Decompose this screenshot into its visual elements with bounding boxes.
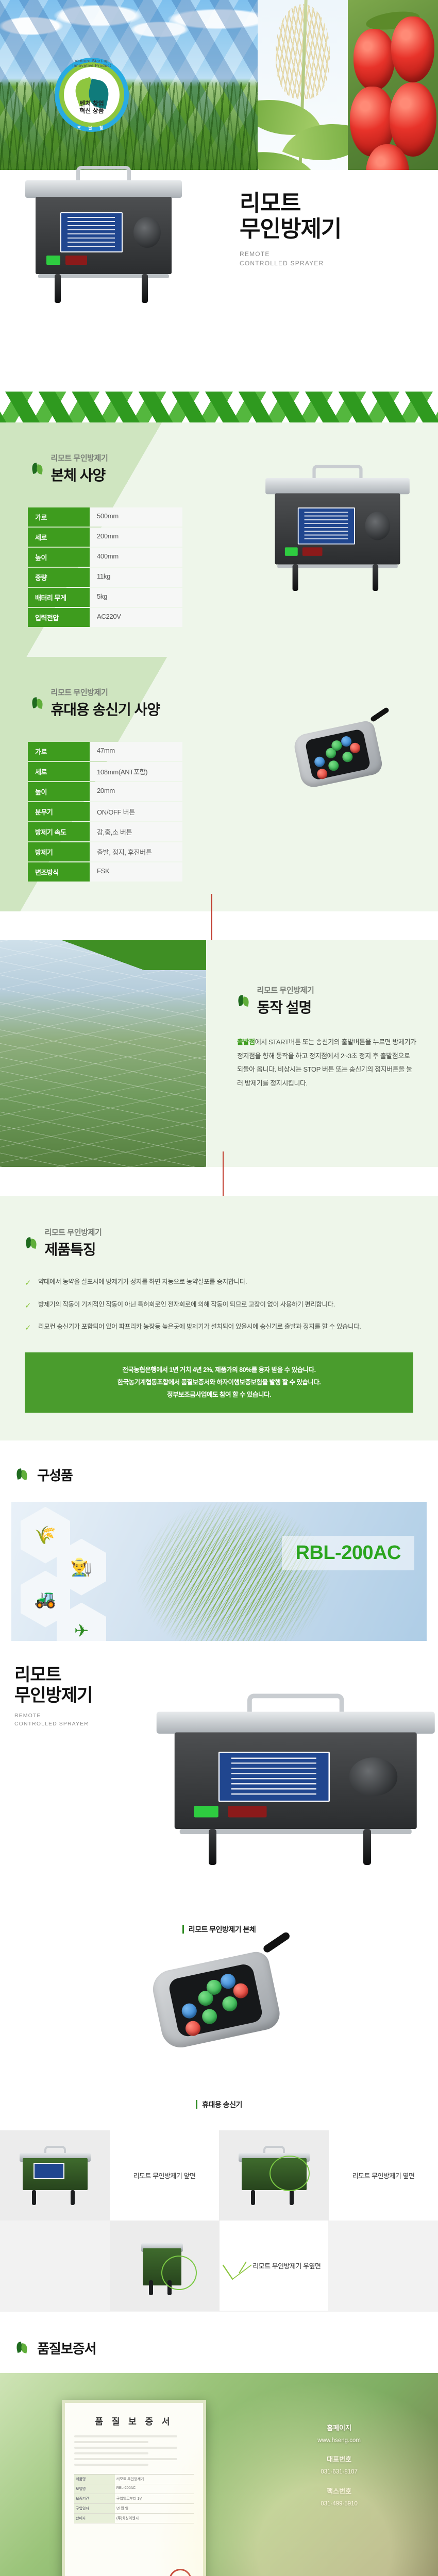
operation-highlight: 출발점 — [237, 1038, 255, 1046]
remote-spec-photo — [273, 714, 407, 811]
table-row: 세로 200mm — [28, 528, 182, 547]
tomato — [390, 82, 436, 157]
model-code: RBL-200AC — [295, 1542, 401, 1564]
spec-value: 400mm — [90, 548, 182, 567]
leaf-icon — [31, 463, 44, 474]
components-section: 구성품 🌾 👨‍🌾 🚜 ✈ RBL-200AC 리모트 무인방제기 REMOTE… — [0, 1440, 438, 2312]
features-header: 리모트 무인방제기 제품특징 — [0, 1227, 438, 1259]
hero-title-kr-line1: 리모트 — [240, 191, 425, 216]
warranty-section: 품질보증서 품 질 보 증 서 제품명 리모트 무인방제기 모델명 RBL-20… — [0, 2312, 438, 2576]
features-title: 제품특징 — [44, 1239, 102, 1259]
machine-knob — [365, 512, 390, 540]
front-view-label: 리모트 무인방제기 앞면 — [110, 2130, 219, 2221]
leaf-icon — [15, 1469, 29, 1480]
hero-content: Venture Start-up Innovative Product 벤처 창… — [0, 170, 438, 392]
pin-marker — [223, 1151, 224, 1203]
spec-value: 500mm — [90, 507, 182, 527]
pin-marker — [211, 894, 212, 945]
spec-key: 높이 — [28, 548, 90, 567]
machine-label-panel — [297, 507, 355, 545]
machine-display — [65, 256, 87, 265]
check-icon: ✓ — [25, 1321, 38, 1335]
main-product-photo — [144, 1692, 386, 1862]
fax-label: 팩스번호 — [317, 2486, 361, 2497]
table-row: 판매자 (주)화성이엔지 — [74, 2514, 194, 2523]
table-row: 배터리 무게 5kg — [28, 588, 182, 607]
machine-display — [302, 547, 323, 556]
table-row: 제품명 리모트 무인방제기 — [74, 2475, 194, 2484]
warranty-certificate: 품 질 보 증 서 제품명 리모트 무인방제기 모델명 RBL-200AC 보증… — [62, 2400, 206, 2576]
machine-display — [228, 1806, 266, 1818]
certificate-title: 품 질 보 증 서 — [74, 2414, 194, 2427]
operation-description: 출발점에서 START버튼 또는 송신기의 출발버튼을 누르면 방제기가 정지점… — [237, 1036, 417, 1091]
badge-center-text: 벤처 창업 혁신 상품 — [64, 100, 120, 115]
antenna-icon — [262, 1931, 291, 1954]
product-title-kr-line1: 리모트 — [14, 1665, 438, 1686]
badge-ring-bottom-text: 조 달 청 — [64, 125, 120, 131]
grid-spacer — [0, 2221, 110, 2311]
cert-key: 제품명 — [74, 2475, 115, 2484]
cloud-layer — [0, 0, 258, 87]
spec-value: 200mm — [90, 528, 182, 547]
machine-leg — [293, 564, 298, 591]
table-row: 모델명 RBL-200AC — [74, 2484, 194, 2494]
fax-value: 031-499-5910 — [317, 2499, 361, 2510]
table-row: 보증기간 구입일로부터 1년 — [74, 2494, 194, 2504]
check-icon: ✓ — [25, 1277, 38, 1290]
notice-line-3: 정부보조금사업에도 참여 할 수 있습니다. — [30, 1388, 408, 1401]
arrow-icon — [227, 2255, 247, 2276]
right-side-view-photo — [110, 2221, 220, 2311]
body-spec-eyebrow: 리모트 무인방제기 — [50, 452, 108, 463]
table-row: 높이 20mm — [28, 782, 182, 801]
machine-legs — [275, 564, 400, 592]
machine-top-lid — [156, 1711, 434, 1734]
spec-key: 방제기 — [28, 842, 90, 861]
section-connector-2 — [0, 1167, 438, 1196]
spec-key: 변조방식 — [28, 862, 90, 882]
spec-value: ON/OFF 버튼 — [90, 802, 182, 821]
hero-title-block: 리모트 무인방제기 REMOTE CONTROLLED SPRAYER — [240, 191, 425, 268]
machine-body — [275, 493, 400, 564]
machine-handle — [247, 1693, 344, 1713]
notice-line-1: 전국농협은행에서 1년 거치 4년 2%, 제품가의 80%를 융자 받을 수 … — [30, 1364, 408, 1376]
table-row: 입력전압 AC220V — [28, 608, 182, 627]
machine-legs — [36, 274, 172, 305]
remote-button — [184, 2020, 201, 2037]
spec-key: 분무기 — [28, 802, 90, 821]
remote-transmitter-photo — [142, 1958, 296, 2087]
check-icon: ✓ — [25, 1299, 38, 1313]
triangle-divider-band — [0, 392, 438, 422]
operation-eyebrow: 리모트 무인방제기 — [257, 985, 314, 995]
remote-spec-section: 리모트 무인방제기 휴대용 송신기 사양 — [0, 657, 438, 911]
caption-text: 리모트 무인방제기 본체 — [189, 1924, 256, 1935]
remote-button — [316, 768, 328, 781]
side-view-label: 리모트 무인방제기 옆면 — [329, 2130, 438, 2221]
hero-title-en-line1: REMOTE — [240, 249, 425, 259]
remote-spec-table: 가로 47mm 세로 108mm(ANT포함) 높이 20mm 분무기 ON/O… — [28, 742, 182, 882]
cert-value: 구입일로부터 1년 — [115, 2494, 194, 2503]
side-view-photo — [219, 2130, 329, 2221]
machine-body — [36, 197, 172, 274]
body-spec-header: 리모트 무인방제기 본체 사양 — [0, 422, 438, 485]
cert-value: (주)화성이엔지 — [115, 2514, 194, 2523]
front-view-photo — [0, 2130, 110, 2221]
spec-key: 세로 — [28, 528, 90, 547]
table-row: 가로 47mm — [28, 742, 182, 761]
spec-value: AC220V — [90, 608, 182, 627]
machine-mini — [16, 2144, 94, 2206]
hero-title-kr-line2: 무인방제기 — [240, 216, 425, 242]
table-row: 구입일자 년 월 일 — [74, 2504, 194, 2514]
table-row: 가로 500mm — [28, 507, 182, 527]
components-header: 구성품 — [0, 1465, 438, 1484]
phone-label: 대표번호 — [317, 2454, 361, 2465]
table-row: 방제기 출발, 정지, 후진버튼 — [28, 842, 182, 861]
homepage-label: 홈페이지 — [317, 2422, 361, 2434]
spec-key: 방제기 속도 — [28, 822, 90, 841]
badge-inner: 벤처 창업 혁신 상품 — [64, 67, 120, 123]
cert-key: 모델명 — [74, 2484, 115, 2494]
wheat-field-artwork — [114, 1502, 331, 1641]
features-list: ✓ 약대에서 농약을 살포시에 방제기가 정지를 하면 자동으로 농약살포를 중… — [25, 1277, 413, 1335]
list-item: ✓ 방제기의 작동이 기계적인 작동이 아닌 특허회로인 전자회로에 의해 작동… — [25, 1299, 413, 1313]
spec-value: 47mm — [90, 742, 182, 761]
greenhouse-photo — [0, 940, 206, 1167]
grid-row: 리모트 무인방제기 우옆면 — [0, 2221, 438, 2311]
body-spec-title: 본체 사양 — [50, 464, 108, 485]
spec-key: 배터리 무게 — [28, 588, 90, 607]
machine-leg — [363, 1829, 371, 1865]
spec-value: 11kg — [90, 568, 182, 587]
highlight-ellipse — [161, 2256, 197, 2290]
caption-bar — [182, 1925, 184, 1934]
certificate-seal: 인 — [169, 2569, 192, 2576]
financing-notice-box: 전국농협은행에서 1년 거치 4년 2%, 제품가의 80%를 융자 받을 수 … — [25, 1352, 413, 1413]
remote-spec-eyebrow: 리모트 무인방제기 — [50, 687, 160, 698]
machine-leg — [142, 274, 148, 303]
table-row: 중량 11kg — [28, 568, 182, 587]
remote-button — [180, 2002, 197, 2020]
spec-value: 출발, 정지, 후진버튼 — [90, 842, 182, 861]
certificate-table: 제품명 리모트 무인방제기 모델명 RBL-200AC 보증기간 구입일로부터 … — [74, 2474, 194, 2523]
remote-spec-title: 휴대용 송신기 사양 — [50, 699, 160, 719]
cert-key: 판매자 — [74, 2514, 115, 2523]
spec-key: 높이 — [28, 782, 90, 801]
cert-value: 리모트 무인방제기 — [115, 2475, 194, 2484]
cert-value: 년 월 일 — [115, 2504, 194, 2513]
highlight-ellipse — [269, 2156, 310, 2192]
leaf-icon — [25, 1238, 38, 1249]
remote-keypad — [305, 728, 371, 781]
leaf-icon — [31, 698, 44, 709]
hero-title-kr: 리모트 무인방제기 — [240, 191, 425, 242]
section-connector-1 — [0, 911, 438, 940]
notice-line-2: 한국농기계협동조합에서 품질보증서와 하자이행보증보험을 발행 할 수 있습니다… — [30, 1376, 408, 1388]
features-eyebrow: 리모트 무인방제기 — [44, 1227, 102, 1238]
product-detail-page: Venture Start-up Innovative Product 벤처 창… — [0, 0, 438, 2576]
machine-power-led — [194, 1806, 218, 1818]
remote-button — [341, 751, 353, 763]
components-title: 구성품 — [37, 1465, 73, 1484]
hexagon-icon-cluster: 🌾 👨‍🌾 🚜 ✈ — [16, 1507, 125, 1636]
machine-power-led — [46, 256, 60, 265]
leaf-icon — [237, 995, 250, 1007]
list-item: ✓ 약대에서 농약을 살포시에 방제기가 정지를 하면 자동으로 농약살포를 중… — [25, 1277, 413, 1290]
operation-section: 리모트 무인방제기 동작 설명 출발점에서 START버튼 또는 송신기의 출발… — [0, 940, 438, 1167]
remote-body — [292, 720, 384, 790]
machine-body — [175, 1732, 417, 1829]
feature-text: 방제기의 작동이 기계적인 작동이 아닌 특허회로인 전자회로에 의해 작동이 … — [38, 1299, 335, 1313]
spec-value: 강,중,소 버튼 — [90, 822, 182, 841]
contact-info: 홈페이지 www.hseng.com 대표번호 031-631-8107 팩스번… — [317, 2422, 361, 2510]
features-section: 리모트 무인방제기 제품특징 ✓ 약대에서 농약을 살포시에 방제기가 정지를 … — [0, 1196, 438, 1440]
warranty-title: 품질보증서 — [37, 2338, 96, 2358]
sprayer-machine-illustration — [144, 1692, 438, 1905]
machine-label-panel — [60, 212, 123, 252]
machine-top-lid — [25, 180, 182, 198]
machine-legs — [175, 1829, 417, 1868]
caption-bar — [196, 2100, 197, 2109]
cert-key: 보증기간 — [74, 2494, 115, 2503]
machine-mini — [235, 2144, 313, 2206]
right-side-label-text: 리모트 무인방제기 우옆면 — [252, 2261, 321, 2270]
remote-showcase-block: 휴대용 송신기 — [0, 1935, 438, 2130]
spec-value: 20mm — [90, 782, 182, 801]
machine-handle — [76, 166, 131, 181]
model-code-tag: RBL-200AC — [282, 1536, 414, 1570]
remote-transmitter-illustration — [286, 714, 394, 791]
table-row: 분무기 ON/OFF 버튼 — [28, 802, 182, 821]
operation-content: 리모트 무인방제기 동작 설명 출발점에서 START버튼 또는 송신기의 출발… — [206, 940, 438, 1167]
spec-value: 5kg — [90, 588, 182, 607]
spec-key: 세로 — [28, 762, 90, 781]
body-spec-section: 리모트 무인방제기 본체 사양 — [0, 422, 438, 657]
hero-title-en: REMOTE CONTROLLED SPRAYER — [240, 249, 425, 268]
spec-key: 가로 — [28, 742, 90, 761]
machine-leg — [373, 564, 378, 591]
table-row: 방제기 속도 강,중,소 버튼 — [28, 822, 182, 841]
table-row: 세로 108mm(ANT포함) — [28, 762, 182, 781]
machine-knob — [133, 217, 161, 248]
remote-spec-header: 리모트 무인방제기 휴대용 송신기 사양 — [0, 657, 438, 719]
machine-knob — [349, 1757, 397, 1796]
table-row: 높이 400mm — [28, 548, 182, 567]
body-spec-table: 가로 500mm 세로 200mm 높이 400mm 중량 11kg 배터리 무… — [28, 507, 182, 627]
machine-leg — [55, 274, 61, 303]
operation-body-text: 에서 START버튼 또는 송신기의 출발버튼을 누르면 방제기가 정지점을 향… — [237, 1038, 416, 1087]
phone-value: 031-631-8107 — [317, 2467, 361, 2478]
remote-button — [313, 756, 326, 768]
list-item: ✓ 리모컨 송신기가 포함되어 있어 파프리카 농장등 높은곳에 방제기가 설치… — [25, 1321, 413, 1335]
spec-value: FSK — [90, 862, 182, 882]
spec-key: 입력전압 — [28, 608, 90, 627]
product-view-grid: 리모트 무인방제기 앞면 리모트 무인방제기 옆면 — [0, 2130, 438, 2312]
tomato — [391, 16, 434, 82]
caption-remote: 휴대용 송신기 — [0, 2099, 438, 2110]
remote-button — [200, 2008, 218, 2025]
machine-mini — [126, 2234, 203, 2296]
spec-value: 108mm(ANT포함) — [90, 762, 182, 781]
remote-button — [327, 759, 340, 772]
cert-key: 구입일자 — [74, 2504, 115, 2513]
hero-title-en-line2: CONTROLLED SPRAYER — [240, 259, 425, 268]
remote-transmitter-illustration — [141, 1941, 298, 2053]
leaf-icon — [15, 2342, 29, 2353]
warranty-background-photo: 품 질 보 증 서 제품명 리모트 무인방제기 모델명 RBL-200AC 보증… — [0, 2373, 438, 2576]
homepage-value[interactable]: www.hseng.com — [317, 2436, 361, 2446]
hero-machine-photo — [19, 165, 189, 319]
caption-text: 휴대용 송신기 — [202, 2099, 242, 2110]
remote-button — [221, 1995, 238, 2012]
grid-row: 리모트 무인방제기 앞면 리모트 무인방제기 옆면 — [0, 2130, 438, 2221]
grid-spacer — [328, 2221, 438, 2311]
warranty-header: 품질보증서 — [0, 2312, 438, 2358]
operation-title: 동작 설명 — [257, 996, 314, 1017]
machine-power-led — [285, 547, 297, 556]
tomato — [353, 29, 395, 91]
caption-body-unit: 리모트 무인방제기 본체 — [0, 1924, 438, 1935]
feature-text: 리모컨 송신기가 포함되어 있어 파프리카 농장등 높은곳에 방제기가 설치되어… — [38, 1321, 361, 1335]
remote-keypad — [167, 1962, 264, 2038]
operation-header: 리모트 무인방제기 동작 설명 — [237, 985, 417, 1017]
table-row: 변조방식 FSK — [28, 862, 182, 882]
right-side-view-label: 리모트 무인방제기 우옆면 — [220, 2221, 329, 2311]
sprayer-machine-illustration — [19, 165, 189, 319]
cert-value: RBL-200AC — [115, 2484, 194, 2494]
hero-section: Venture Start-up Innovative Product 벤처 창… — [0, 0, 438, 392]
spec-key: 중량 — [28, 568, 90, 587]
badge-center-line2: 혁신 상품 — [64, 108, 120, 115]
model-banner: 🌾 👨‍🌾 🚜 ✈ RBL-200AC — [11, 1502, 427, 1641]
spec-key: 가로 — [28, 507, 90, 527]
feature-text: 약대에서 농약을 살포시에 방제기가 정지를 하면 자동으로 농약살포를 중지합… — [38, 1277, 247, 1290]
machine-leg — [209, 1829, 216, 1865]
remote-body — [149, 1950, 282, 2051]
venture-innovation-badge: Venture Start-up Innovative Product 벤처 창… — [64, 67, 120, 123]
machine-label-panel — [218, 1752, 329, 1802]
